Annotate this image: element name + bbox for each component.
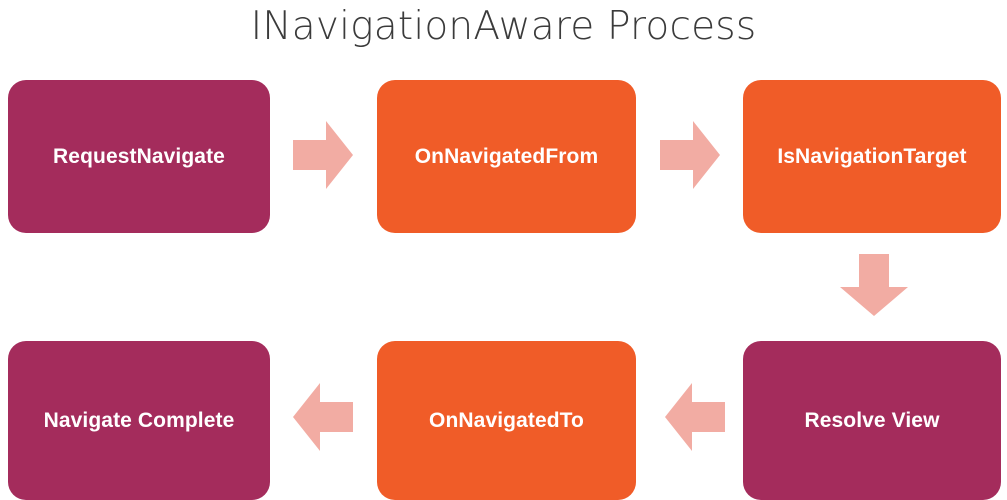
node-on-navigated-from[interactable]: OnNavigatedFrom <box>377 80 636 233</box>
node-request-navigate[interactable]: RequestNavigate <box>8 80 270 233</box>
node-resolve-view[interactable]: Resolve View <box>743 341 1001 500</box>
node-label: Resolve View <box>804 408 939 433</box>
page-title: INavigationAware Process <box>0 4 1007 49</box>
node-navigate-complete[interactable]: Navigate Complete <box>8 341 270 500</box>
arrow-left-icon <box>665 383 725 451</box>
arrow-down-icon <box>840 254 908 316</box>
node-label: OnNavigatedFrom <box>415 144 599 169</box>
arrow-right-icon <box>293 121 353 189</box>
node-on-navigated-to[interactable]: OnNavigatedTo <box>377 341 636 500</box>
node-label: OnNavigatedTo <box>429 408 584 433</box>
navigation-flow-diagram: INavigationAware Process RequestNavigate… <box>0 0 1007 500</box>
node-label: Navigate Complete <box>44 408 235 433</box>
arrow-left-icon <box>293 383 353 451</box>
node-is-navigation-target[interactable]: IsNavigationTarget <box>743 80 1001 233</box>
arrow-right-icon <box>660 121 720 189</box>
node-label: RequestNavigate <box>53 144 225 169</box>
node-label: IsNavigationTarget <box>777 144 966 169</box>
